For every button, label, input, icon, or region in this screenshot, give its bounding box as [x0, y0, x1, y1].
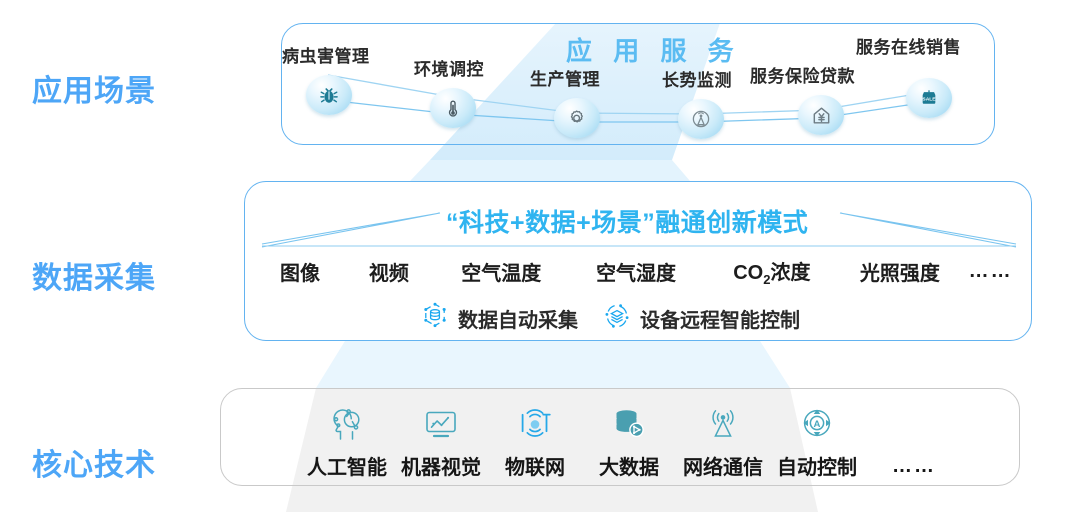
data-item-list: 图像 视频 空气温度 空气湿度 CO2浓度 光照强度 …… [258, 256, 1020, 286]
tech-item-iot[interactable]: 物联网 [488, 403, 582, 480]
data-mode-title: “科技+数据+场景”融通创新模式 [446, 203, 808, 239]
tech-item-network-comm[interactable]: 网络通信 [676, 403, 770, 480]
app-node-label: 服务保险贷款 [750, 62, 855, 87]
co2-suffix: 浓度 [770, 262, 810, 284]
app-node-label: 长势监测 [662, 66, 732, 91]
svg-text:A: A [814, 419, 821, 430]
data-item: 光照强度 [838, 257, 961, 286]
data-item: 图像 [258, 257, 342, 286]
app-node-label: 服务在线销售 [856, 33, 961, 58]
tech-item-label: 人工智能 [307, 451, 387, 480]
svg-text:SALE: SALE [922, 96, 936, 102]
house-yuan-icon [798, 95, 844, 135]
tech-item-label: 机器视觉 [401, 451, 481, 480]
row-label-core-tech: 核心技术 [32, 440, 156, 484]
tech-items-ellipsis: …… [864, 455, 964, 480]
tech-item-ai[interactable]: 人工智能 [300, 403, 394, 480]
diagram-canvas: 应用场景 数据采集 核心技术 应 用 服 务 病虫害管理 环境调控 [0, 0, 1080, 512]
tech-item-list: 人工智能 机器视觉 [300, 398, 964, 480]
tech-item-label: 网络通信 [683, 451, 763, 480]
auto-control-icon: A [797, 403, 837, 447]
database-network-icon [420, 301, 450, 336]
data-feature-remote-control: 设备远程智能控制 [602, 301, 800, 336]
data-item: 空气温度 [436, 257, 567, 286]
layers-sync-icon [602, 301, 632, 336]
ai-head-icon [327, 403, 367, 447]
tech-item-label: 物联网 [505, 451, 565, 480]
big-data-icon [609, 403, 649, 447]
app-node-label: 病虫害管理 [282, 42, 370, 67]
thermometer-icon [430, 88, 476, 128]
machine-vision-icon [421, 403, 461, 447]
data-feature-label: 数据自动采集 [458, 304, 578, 333]
data-item-co2: CO2浓度 [705, 256, 838, 287]
bug-icon [306, 75, 352, 115]
data-feature-auto-collect: 数据自动采集 [420, 301, 578, 336]
sale-tag-icon: SALE [906, 78, 952, 118]
tech-item-label: 自动控制 [777, 451, 857, 480]
data-feature-label: 设备远程智能控制 [640, 304, 800, 333]
data-items-ellipsis: …… [961, 260, 1020, 283]
tech-item-auto-control[interactable]: A 自动控制 [770, 403, 864, 480]
tech-item-label: 大数据 [599, 451, 659, 480]
co2-prefix: CO [733, 262, 763, 284]
app-node-label: 生产管理 [530, 65, 600, 90]
tech-item-machine-vision[interactable]: 机器视觉 [394, 403, 488, 480]
data-item: 空气湿度 [567, 257, 706, 286]
signal-tower-icon [678, 99, 724, 139]
gear-icon [554, 98, 600, 138]
iot-icon [515, 403, 555, 447]
app-service-title: 应 用 服 务 [566, 31, 741, 68]
data-feature-list: 数据自动采集 设备远程智能控制 [420, 302, 800, 334]
row-label-application: 应用场景 [32, 66, 156, 110]
app-node-label: 环境调控 [414, 55, 484, 80]
row-label-data: 数据采集 [32, 253, 156, 297]
data-item: 视频 [342, 257, 436, 286]
network-comm-icon [703, 403, 743, 447]
tech-item-big-data[interactable]: 大数据 [582, 403, 676, 480]
